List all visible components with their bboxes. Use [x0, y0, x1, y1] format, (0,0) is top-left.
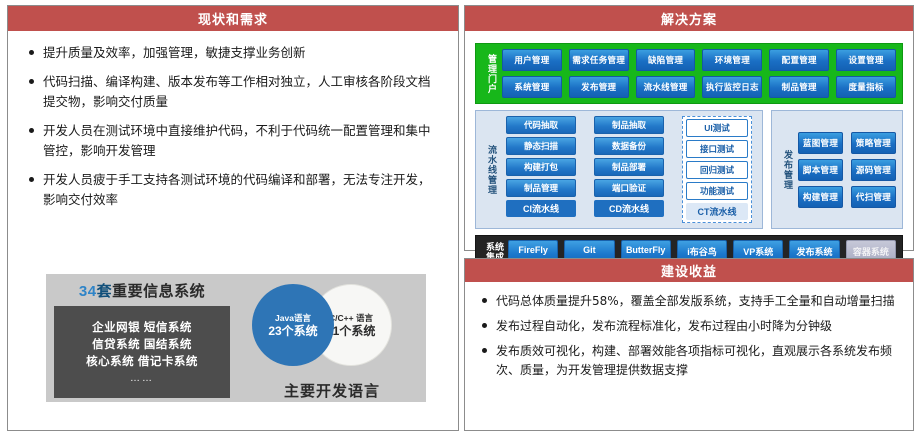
- bullet-text: 开发人员疲于手工支持各测试环境的代码编译和部署，无法专注开发，影响交付效率: [43, 170, 442, 210]
- venn-caption: 主要开发语言: [252, 380, 412, 401]
- portal-button[interactable]: 用户管理: [502, 49, 562, 71]
- release-button[interactable]: 代扫管理: [851, 186, 896, 208]
- portal-button[interactable]: 设置管理: [836, 49, 896, 71]
- release-button[interactable]: 构建管理: [798, 186, 843, 208]
- bullet-dot-icon: [482, 298, 487, 303]
- portal-button[interactable]: 制品管理: [769, 76, 829, 98]
- pipeline-step[interactable]: 数据备份: [594, 137, 664, 155]
- pipeline-column-caption: CD流水线: [594, 200, 664, 217]
- portal-button[interactable]: 缺陷管理: [636, 49, 696, 71]
- slide-root: 现状和需求 提升质量及效率，加强管理，敏捷支撑业务创新 代码扫描、编译构建、版本…: [0, 0, 919, 436]
- panel-solution-title: 解决方案: [465, 6, 913, 31]
- portal-button[interactable]: 系统管理: [502, 76, 562, 98]
- portal-button[interactable]: 需求任务管理: [569, 49, 629, 71]
- release-button[interactable]: 源码管理: [851, 159, 896, 181]
- bullet-dot-icon: [29, 128, 34, 133]
- panel-benefits: 建设收益 代码总体质量提升58%，覆盖全部发版系统，支持手工全量和自动增量扫描 …: [464, 258, 914, 431]
- statistics-figure: 34套重要信息系统 企业网银 短信系统 信贷系统 国结系统 核心系统 借记卡系统…: [46, 274, 426, 402]
- benefits-bullet-list: 代码总体质量提升58%，覆盖全部发版系统，支持手工全量和自动增量扫描 发布过程自…: [465, 282, 913, 380]
- venn-java-label: Java语言: [275, 312, 311, 324]
- pipeline-column-cd: 制品抽取 数据备份 制品部署 端口验证 CD流水线: [594, 116, 664, 223]
- bullet-dot-icon: [482, 348, 487, 353]
- portal-button[interactable]: 流水线管理: [636, 76, 696, 98]
- bullet-text: 发布质效可视化，构建、部署效能各项指标可视化，直观展示各系统发布频次、质量，为开…: [496, 342, 899, 380]
- portal-button[interactable]: 执行监控日志: [702, 76, 762, 98]
- release-button[interactable]: 策略管理: [851, 132, 896, 154]
- bullet-text: 代码总体质量提升58%，覆盖全部发版系统，支持手工全量和自动增量扫描: [496, 292, 895, 311]
- bullet-text: 开发人员在测试环境中直接维护代码，不利于代码统一配置管理和集中管控，影响开发管理: [43, 121, 442, 161]
- pipeline-step[interactable]: 构建打包: [506, 158, 576, 176]
- pipeline-columns: 代码抽取 静态扫描 构建打包 制品管理 CI流水线 制品抽取 数据备份 制品部署…: [502, 116, 756, 223]
- system-name-line: 信贷系统 国结系统: [92, 337, 192, 354]
- pipeline-column-caption: CI流水线: [506, 200, 576, 217]
- pipeline-column-ct: UI测试 接口测试 回归测试 功能测试 CT流水线: [682, 116, 752, 223]
- management-portal-band: 管理门户 用户管理 需求任务管理 缺陷管理 环境管理 配置管理 设置管理 系统管…: [475, 43, 903, 104]
- list-item: 代码扫描、编译构建、版本发布等工作相对独立，人工审核各阶段文档提交物，影响交付质…: [26, 72, 442, 112]
- management-portal-grid: 用户管理 需求任务管理 缺陷管理 环境管理 配置管理 设置管理 系统管理 发布管…: [502, 49, 896, 98]
- pipeline-step[interactable]: 回归测试: [686, 161, 748, 179]
- portal-button[interactable]: 发布管理: [569, 76, 629, 98]
- list-item: 代码总体质量提升58%，覆盖全部发版系统，支持手工全量和自动增量扫描: [479, 292, 899, 311]
- pipeline-step[interactable]: 制品部署: [594, 158, 664, 176]
- current-situation-bullet-list: 提升质量及效率，加强管理，敏捷支撑业务创新 代码扫描、编译构建、版本发布等工作相…: [8, 31, 458, 210]
- pipeline-management-label: 流水线管理: [482, 116, 502, 223]
- portal-button[interactable]: 配置管理: [769, 49, 829, 71]
- language-venn-card: C/C++ 语言 11个系统 Java语言 23个系统 主要开发语言: [238, 274, 426, 402]
- pipeline-column-caption: CT流水线: [686, 203, 748, 220]
- pipeline-step[interactable]: 静态扫描: [506, 137, 576, 155]
- bullet-dot-icon: [29, 50, 34, 55]
- bullet-dot-icon: [29, 177, 34, 182]
- release-button[interactable]: 脚本管理: [798, 159, 843, 181]
- system-name-ellipsis: ……: [130, 373, 154, 384]
- release-management-box: 发布管理 蓝图管理 策略管理 脚本管理 源码管理 构建管理 代扫管理: [771, 110, 903, 229]
- bullet-text: 代码扫描、编译构建、版本发布等工作相对独立，人工审核各阶段文档提交物，影响交付质…: [43, 72, 442, 112]
- systems-count-unit: 套: [97, 283, 113, 300]
- systems-title-rest: 重要信息系统: [112, 283, 205, 300]
- venn-cpp-label: C/C++ 语言: [329, 312, 373, 324]
- solution-architecture-diagram: 管理门户 用户管理 需求任务管理 缺陷管理 环境管理 配置管理 设置管理 系统管…: [465, 31, 913, 274]
- bullet-text: 提升质量及效率，加强管理，敏捷支撑业务创新: [43, 43, 306, 63]
- system-name-box: 企业网银 短信系统 信贷系统 国结系统 核心系统 借记卡系统 ……: [54, 306, 230, 398]
- list-item: 发布过程自动化，发布流程标准化，发布过程由小时降为分钟级: [479, 317, 899, 336]
- list-item: 提升质量及效率，加强管理，敏捷支撑业务创新: [26, 43, 442, 63]
- pipeline-management-box: 流水线管理 代码抽取 静态扫描 构建打包 制品管理 CI流水线 制品抽取 数据: [475, 110, 763, 229]
- panel-current-situation: 现状和需求 提升质量及效率，加强管理，敏捷支撑业务创新 代码扫描、编译构建、版本…: [7, 5, 459, 431]
- portal-button[interactable]: 度量指标: [836, 76, 896, 98]
- pipeline-column-ci: 代码抽取 静态扫描 构建打包 制品管理 CI流水线: [506, 116, 576, 223]
- bullet-text: 发布过程自动化，发布流程标准化，发布过程由小时降为分钟级: [496, 317, 832, 336]
- venn-circle-java: Java语言 23个系统: [252, 284, 334, 366]
- pipeline-step[interactable]: 功能测试: [686, 182, 748, 200]
- pipeline-step[interactable]: UI测试: [686, 119, 748, 137]
- release-management-label: 发布管理: [778, 116, 798, 223]
- list-item: 开发人员在测试环境中直接维护代码，不利于代码统一配置管理和集中管控，影响开发管理: [26, 121, 442, 161]
- pipeline-step[interactable]: 代码抽取: [506, 116, 576, 134]
- pipeline-step[interactable]: 制品抽取: [594, 116, 664, 134]
- management-portal-label: 管理门户: [482, 49, 502, 98]
- important-systems-title: 34套重要信息系统: [54, 280, 230, 301]
- panel-solution: 解决方案 管理门户 用户管理 需求任务管理 缺陷管理 环境管理 配置管理 设置管…: [464, 5, 914, 251]
- pipeline-step[interactable]: 端口验证: [594, 179, 664, 197]
- systems-count: 34: [79, 283, 97, 300]
- bullet-dot-icon: [482, 323, 487, 328]
- venn-java-count: 23个系统: [268, 324, 317, 339]
- important-systems-card: 34套重要信息系统 企业网银 短信系统 信贷系统 国结系统 核心系统 借记卡系统…: [46, 274, 238, 402]
- panel-benefits-title: 建设收益: [465, 259, 913, 282]
- panel-current-situation-title: 现状和需求: [8, 6, 458, 31]
- pipeline-step[interactable]: 接口测试: [686, 140, 748, 158]
- solution-middle-row: 流水线管理 代码抽取 静态扫描 构建打包 制品管理 CI流水线 制品抽取 数据: [475, 110, 903, 229]
- pipeline-step[interactable]: 制品管理: [506, 179, 576, 197]
- system-name-line: 核心系统 借记卡系统: [86, 354, 198, 371]
- system-name-line: 企业网银 短信系统: [92, 320, 192, 337]
- list-item: 开发人员疲于手工支持各测试环境的代码编译和部署，无法专注开发，影响交付效率: [26, 170, 442, 210]
- release-button[interactable]: 蓝图管理: [798, 132, 843, 154]
- release-management-grid: 蓝图管理 策略管理 脚本管理 源码管理 构建管理 代扫管理: [798, 116, 896, 223]
- bullet-dot-icon: [29, 79, 34, 84]
- venn-diagram: C/C++ 语言 11个系统 Java语言 23个系统 主要开发语言: [252, 284, 412, 366]
- list-item: 发布质效可视化，构建、部署效能各项指标可视化，直观展示各系统发布频次、质量，为开…: [479, 342, 899, 380]
- portal-button[interactable]: 环境管理: [702, 49, 762, 71]
